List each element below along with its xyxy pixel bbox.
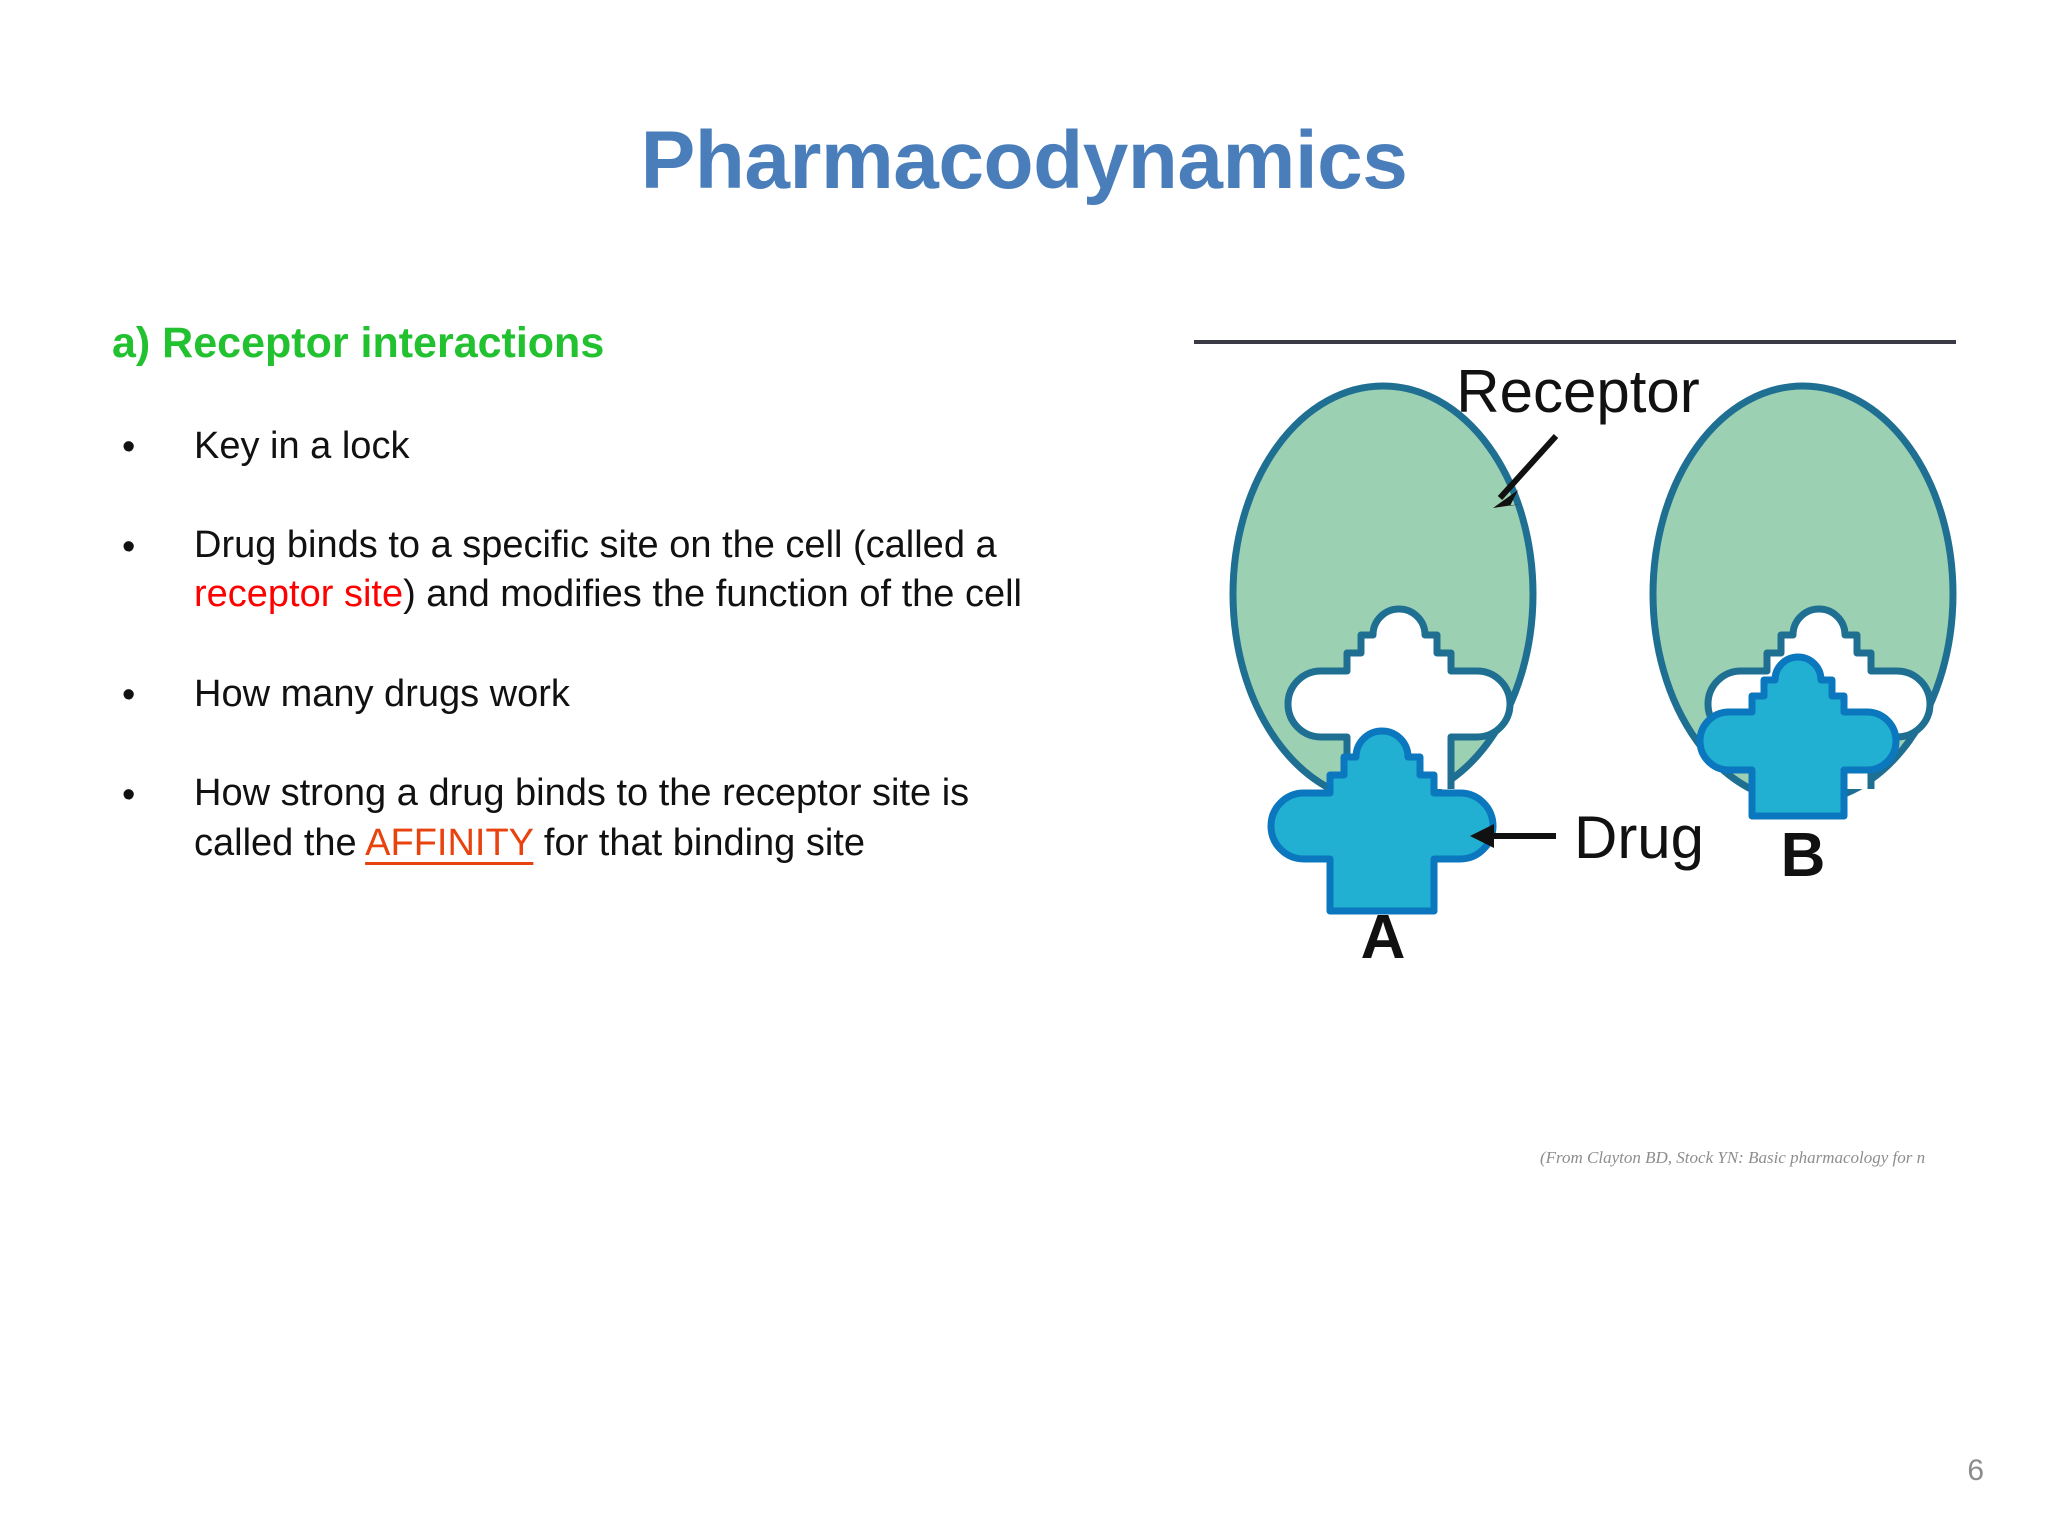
bullet-text: How many drugs work — [194, 673, 570, 715]
bullet-text: Key in a lock — [194, 425, 409, 467]
bullet-text: How strong a drug binds to the receptor … — [194, 772, 969, 863]
bullet-marker: • — [122, 771, 135, 820]
bullet-marker: • — [122, 523, 135, 572]
receptor-label: Receptor — [1456, 358, 1699, 425]
content-column: a) Receptor interactions • Key in a lock… — [112, 318, 1062, 868]
panel-b-label: B — [1781, 821, 1826, 890]
receptor-diagram-svg: Receptor Drug A — [1188, 346, 1968, 966]
list-item: • How many drugs work — [112, 670, 1062, 719]
list-item: • How strong a drug binds to the recepto… — [112, 769, 1062, 868]
drug-molecule-b — [1700, 657, 1896, 816]
receptor-diagram-figure: Receptor Drug A — [1188, 312, 1968, 972]
bullet-text: Drug binds to a specific site on the cel… — [194, 524, 1022, 615]
page-number: 6 — [1967, 1454, 1984, 1488]
bullet-marker: • — [122, 671, 135, 720]
affinity-highlight: AFFINITY — [365, 822, 533, 864]
figure-top-rule — [1194, 340, 1956, 344]
page-title: Pharmacodynamics — [0, 118, 2048, 204]
receptor-site-highlight: receptor site — [194, 573, 403, 615]
bullet-list: • Key in a lock • Drug binds to a specif… — [112, 422, 1062, 868]
list-item: • Drug binds to a specific site on the c… — [112, 521, 1062, 620]
bullet-marker: • — [122, 423, 135, 472]
figure-credit: (From Clayton BD, Stock YN: Basic pharma… — [1540, 1148, 2010, 1168]
slide-canvas: Pharmacodynamics a) Receptor interaction… — [0, 0, 2048, 1536]
panel-a-label: A — [1361, 903, 1406, 966]
list-item: • Key in a lock — [112, 422, 1062, 471]
drug-label: Drug — [1574, 804, 1704, 871]
section-heading: a) Receptor interactions — [112, 318, 1062, 370]
